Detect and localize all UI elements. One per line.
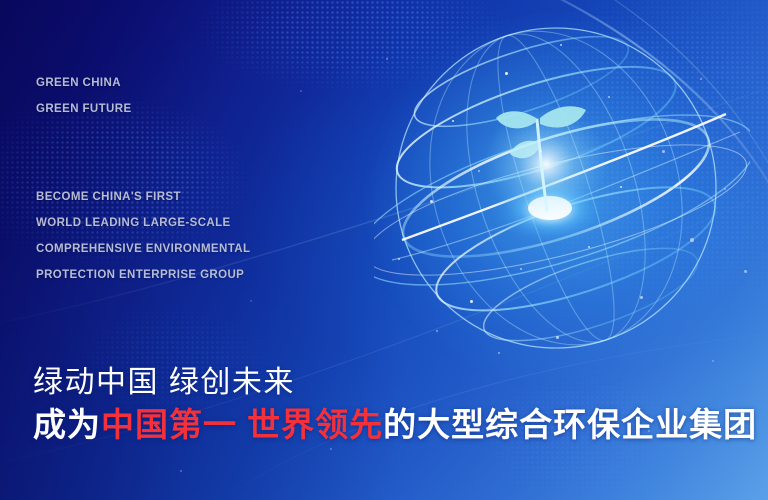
tagline-line-1: GREEN CHINA	[36, 70, 132, 96]
mission-line-2: WORLD LEADING LARGE-SCALE	[36, 210, 250, 236]
tagline-line-2: GREEN FUTURE	[36, 96, 132, 122]
chinese-slogan-line-2: 成为中国第一 世界领先的大型综合环保企业集团	[33, 403, 757, 447]
slogan-accent-china-first: 中国第一	[101, 406, 237, 443]
chinese-headline: 绿动中国 绿创未来 成为中国第一 世界领先的大型综合环保企业集团	[33, 363, 757, 447]
slogan-suffix: 的大型综合环保企业集团	[383, 406, 757, 443]
english-mission-statement: BECOME CHINA'S FIRST WORLD LEADING LARGE…	[36, 184, 250, 288]
mission-line-1: BECOME CHINA'S FIRST	[36, 184, 250, 210]
mission-line-4: PROTECTION ENTERPRISE GROUP	[36, 262, 250, 288]
chinese-slogan-line-1: 绿动中国 绿创未来	[33, 363, 757, 403]
english-tagline: GREEN CHINA GREEN FUTURE	[36, 70, 132, 122]
mission-line-3: COMPREHENSIVE ENVIRONMENTAL	[36, 236, 250, 262]
hero-banner: GREEN CHINA GREEN FUTURE BECOME CHINA'S …	[0, 0, 768, 500]
slogan-prefix: 成为	[33, 406, 101, 443]
slogan-separator	[237, 406, 247, 443]
slogan-accent-world-leading: 世界领先	[247, 406, 383, 443]
